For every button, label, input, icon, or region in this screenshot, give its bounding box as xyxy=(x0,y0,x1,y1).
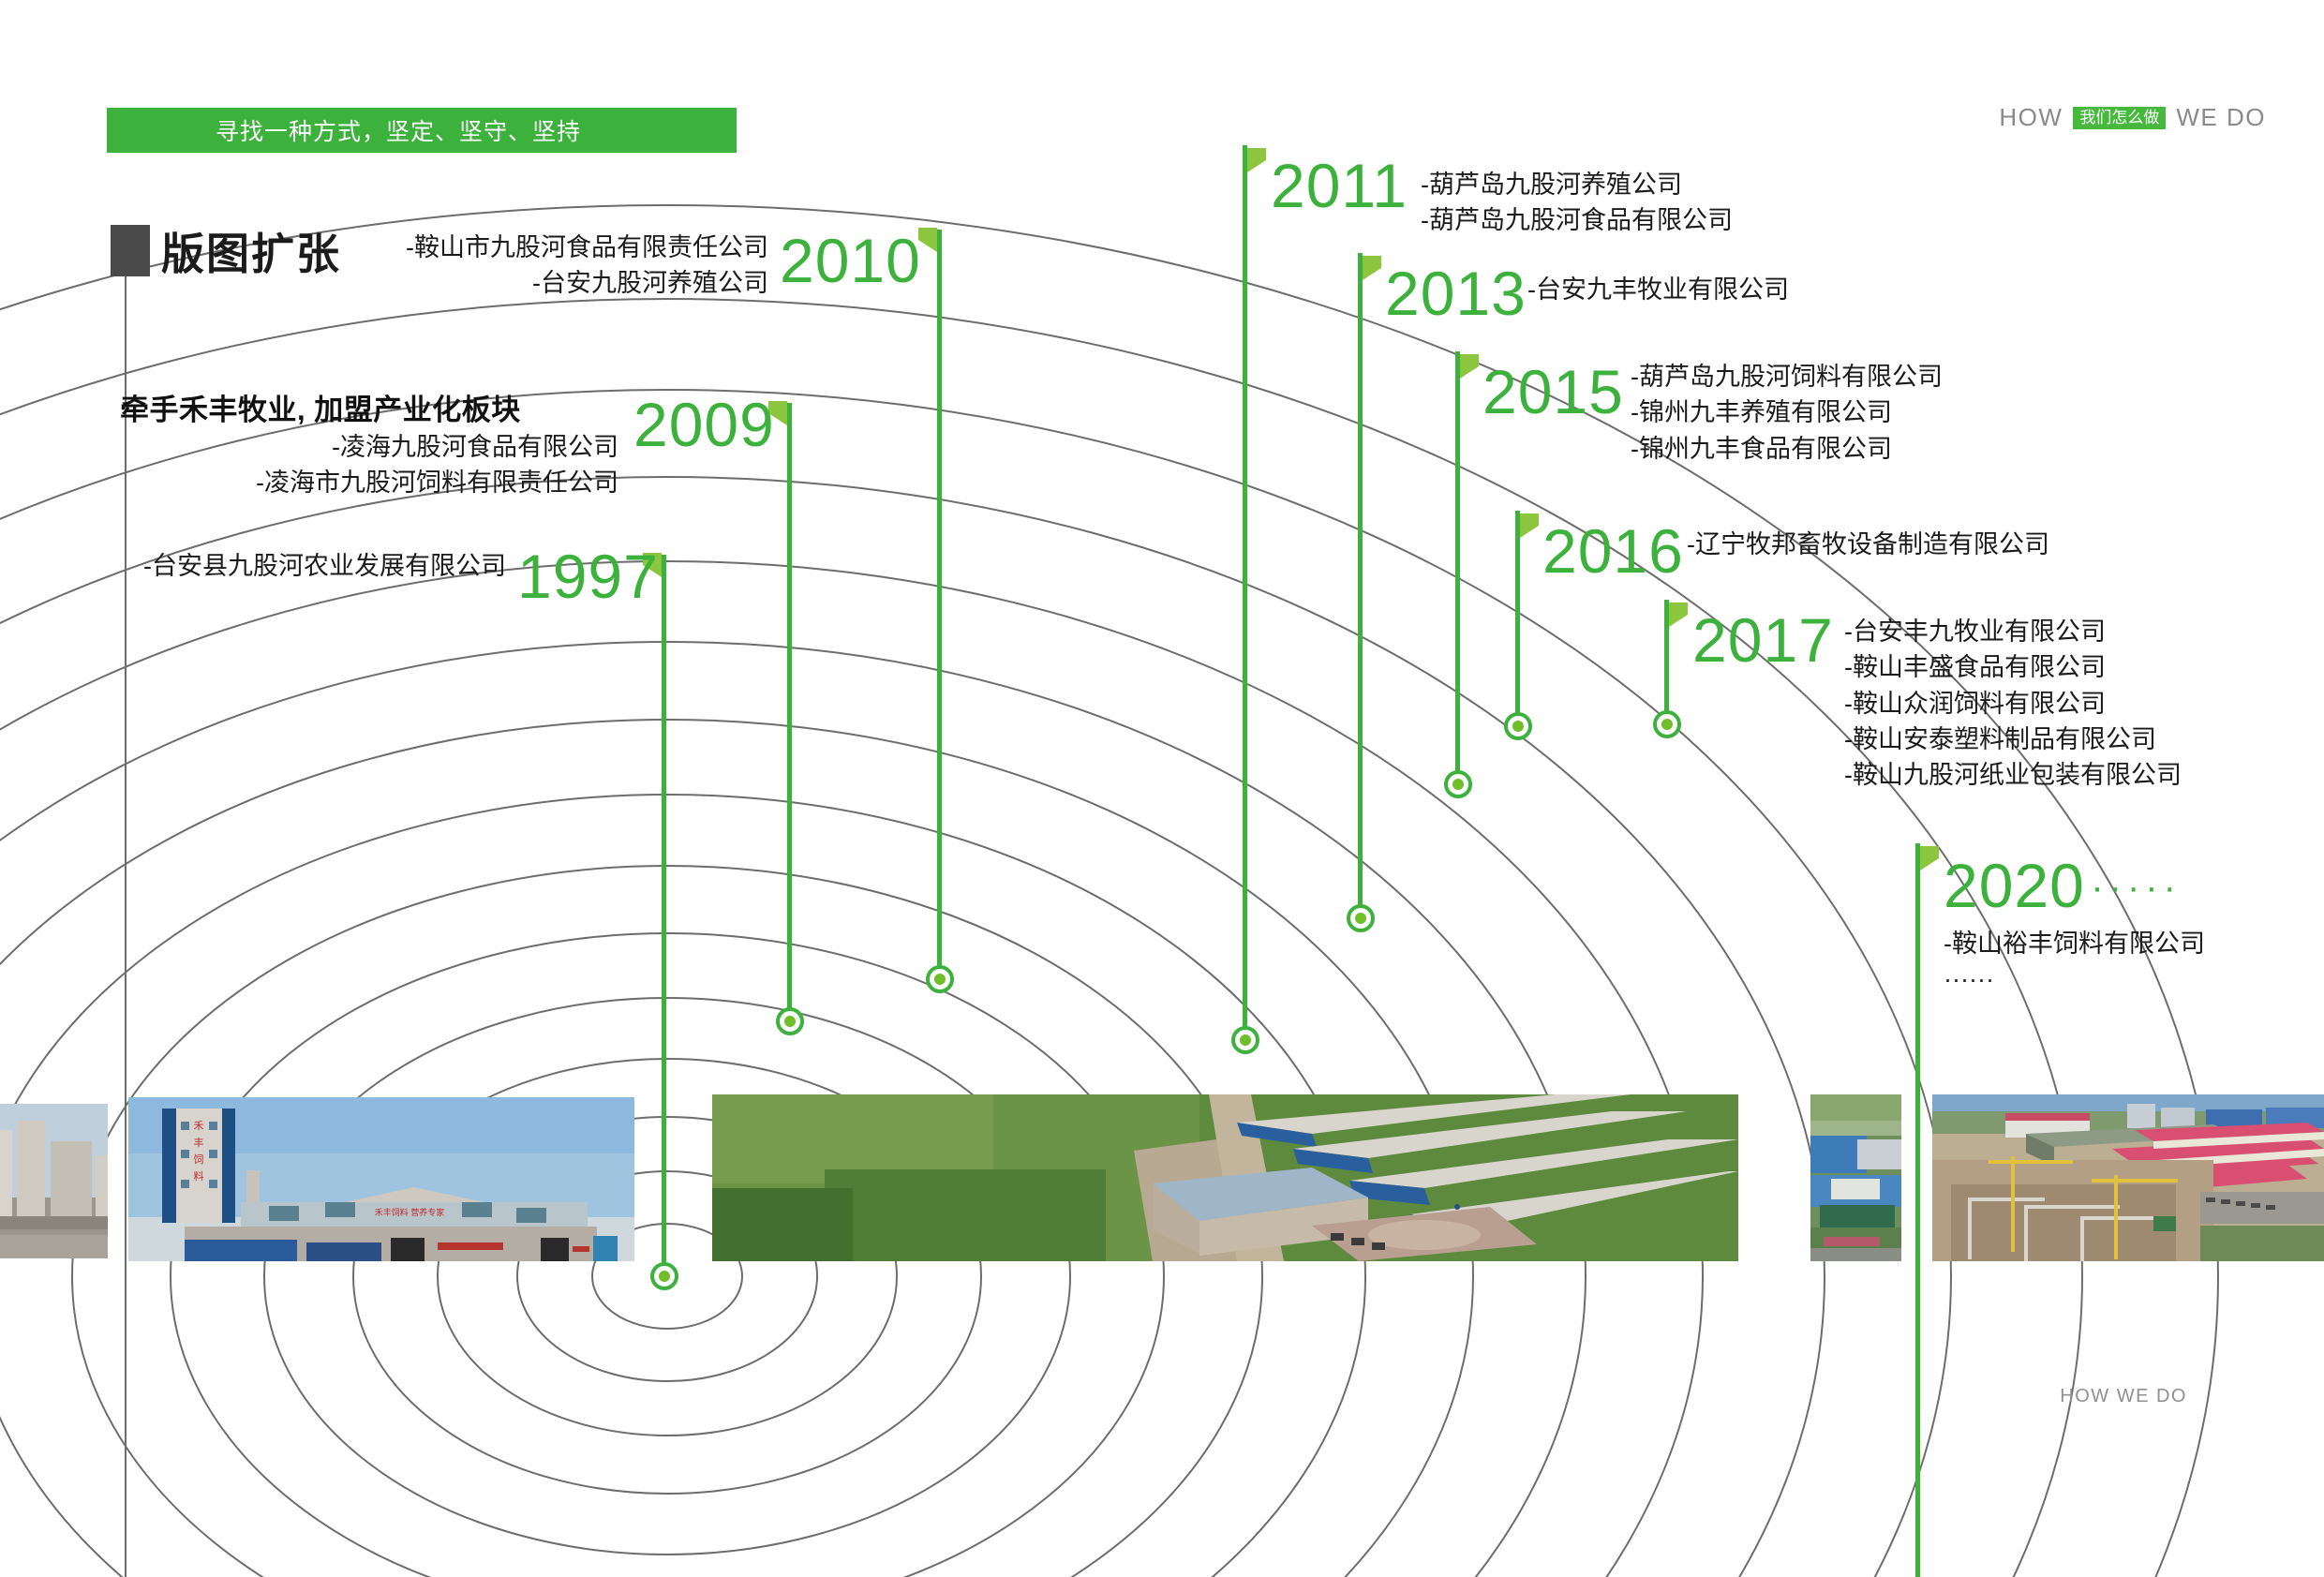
svg-text:禾丰饲料 营养专家: 禾丰饲料 营养专家 xyxy=(375,1207,445,1217)
slide-canvas: 寻找一种方式，坚定、坚守、坚持 HOW 我们怎么做 WE DO 版图扩张 199… xyxy=(0,0,2324,1577)
pole-2010 xyxy=(937,230,942,979)
svg-text:饲: 饲 xyxy=(194,1153,204,1166)
how-prefix: HOW xyxy=(1999,103,2063,132)
pole-2015 xyxy=(1455,351,1460,782)
entry-item: -鞍山裕丰饲料有限公司 xyxy=(1944,926,2205,961)
flag-2015-icon xyxy=(1460,354,1479,379)
entry-item: -凌海九股河食品有限公司 xyxy=(0,429,618,465)
dot-2011 xyxy=(1231,1026,1259,1054)
svg-text:禾: 禾 xyxy=(194,1120,204,1132)
how-suffix: WE DO xyxy=(2176,103,2266,132)
how-chinese-badge: 我们怎么做 xyxy=(2073,107,2166,129)
hefeng-feed-mill-photo: 禾 丰 饲 料 禾丰饲料 营养专家 xyxy=(128,1097,634,1261)
tagline-banner: 寻找一种方式，坚定、坚守、坚持 xyxy=(107,108,737,153)
entries-2017: -台安丰九牧业有限公司 -鞍山丰盛食品有限公司 -鞍山众润饲料有限公司 -鞍山安… xyxy=(1844,614,2182,794)
entry-item: -辽宁牧邦畜牧设备制造有限公司 xyxy=(1687,527,2049,562)
dot-2010 xyxy=(926,965,954,993)
pole-2011 xyxy=(1243,145,1247,1040)
entries-2013: -台安九丰牧业有限公司 xyxy=(1527,272,1789,307)
year-2013: 2013 xyxy=(1385,262,1527,324)
year-1997: 1997 xyxy=(517,545,659,607)
entry-item: -台安九股河养殖公司 xyxy=(187,265,768,301)
svg-text:丰: 丰 xyxy=(194,1137,204,1149)
year-2020-suffix-dots: ······ xyxy=(2073,867,2182,909)
entry-item: -台安九丰牧业有限公司 xyxy=(1527,272,1789,307)
svg-text:料: 料 xyxy=(194,1169,204,1183)
entry-item: -鞍山九股河纸业包装有限公司 xyxy=(1844,757,2182,793)
pole-2013 xyxy=(1358,253,1363,918)
aerial-farm-photo xyxy=(712,1094,1738,1261)
year-2020: 2020 xyxy=(1944,855,2085,916)
year-2009: 2009 xyxy=(633,394,775,455)
year-2015: 2015 xyxy=(1482,361,1624,423)
dot-2016 xyxy=(1504,712,1532,740)
flag-2011-icon xyxy=(1247,148,1266,172)
year-2017: 2017 xyxy=(1692,609,1834,671)
entry-item: -锦州九丰养殖有限公司 xyxy=(1631,394,1943,430)
entries-2011: -葫芦岛九股河养殖公司 -葫芦岛九股河食品有限公司 xyxy=(1421,167,1733,239)
entry-item: -鞍山众润饲料有限公司 xyxy=(1844,686,2182,722)
entry-item: -台安县九股河农业发展有限公司 xyxy=(0,548,506,584)
entry-item: -葫芦岛九股河养殖公司 xyxy=(1421,167,1733,202)
flag-2016-icon xyxy=(1520,513,1539,538)
entries-2010: -鞍山市九股河食品有限责任公司 -台安九股河养殖公司 xyxy=(187,230,768,302)
entry-item: -锦州九丰食品有限公司 xyxy=(1631,431,1943,467)
entries-2016: -辽宁牧邦畜牧设备制造有限公司 xyxy=(1687,527,2049,562)
industrial-park-large-photo xyxy=(1932,1094,2324,1261)
entry-item: -鞍山市九股河食品有限责任公司 xyxy=(187,230,768,265)
header-how-we-do: HOW 我们怎么做 WE DO xyxy=(1999,103,2266,132)
entry-item: -凌海市九股河饲料有限责任公司 xyxy=(0,465,618,500)
flag-2013-icon xyxy=(1363,256,1381,280)
industrial-park-small-photo xyxy=(1810,1094,1901,1261)
year-2011: 2011 xyxy=(1271,155,1408,216)
dot-2009 xyxy=(776,1007,804,1035)
entries-2009: -凌海九股河食品有限公司 -凌海市九股河饲料有限责任公司 xyxy=(0,429,618,501)
dot-1997 xyxy=(650,1262,678,1290)
silo-plant-photo xyxy=(0,1104,108,1258)
dot-2017 xyxy=(1653,710,1681,738)
entry-item: -葫芦岛九股河饲料有限公司 xyxy=(1631,359,1943,394)
entries-2020: -鞍山裕丰饲料有限公司 ······ xyxy=(1944,926,2205,998)
pole-2009 xyxy=(787,403,792,1021)
entries-1997: -台安县九股河农业发展有限公司 xyxy=(0,548,506,584)
entry-item: ······ xyxy=(1944,961,2205,997)
footer-label: HOW WE DO xyxy=(2060,1386,2187,1407)
dot-2013 xyxy=(1347,904,1375,932)
pole-2016 xyxy=(1515,511,1520,719)
section-title-marker xyxy=(111,225,150,276)
subhead-2009: 牵手禾丰牧业, 加盟产业化板块 xyxy=(120,386,521,428)
entry-item: -鞍山丰盛食品有限公司 xyxy=(1844,649,2182,685)
flag-2020-icon xyxy=(1920,846,1939,870)
flag-2017-icon xyxy=(1669,603,1688,627)
entry-item: -葫芦岛九股河食品有限公司 xyxy=(1421,202,1733,238)
year-2016: 2016 xyxy=(1542,520,1684,582)
entry-item: -鞍山安泰塑料制品有限公司 xyxy=(1844,722,2182,757)
pole-1997 xyxy=(662,555,666,1276)
dot-2015 xyxy=(1444,770,1472,798)
pole-2020 xyxy=(1915,843,1920,1577)
entries-2015: -葫芦岛九股河饲料有限公司 -锦州九丰养殖有限公司 -锦州九丰食品有限公司 xyxy=(1631,359,1943,467)
flag-2010-icon xyxy=(918,228,937,252)
year-2010: 2010 xyxy=(780,230,921,291)
tagline-text: 寻找一种方式，坚定、坚守、坚持 xyxy=(216,113,581,147)
entry-item: -台安丰九牧业有限公司 xyxy=(1844,614,2182,649)
